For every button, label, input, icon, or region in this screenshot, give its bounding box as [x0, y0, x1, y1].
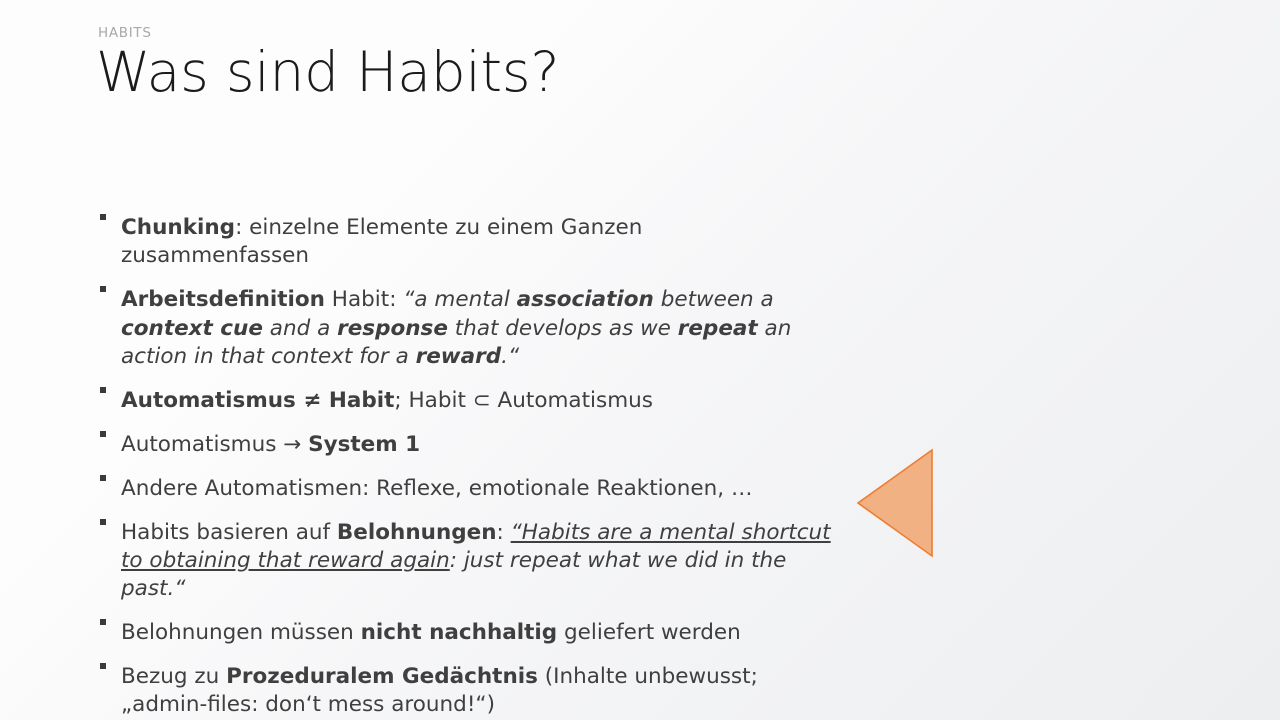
text-run: Prozeduralem Gedächtnis — [226, 664, 538, 689]
list-item: Chunking: einzelne Elemente zu einem Gan… — [96, 214, 836, 271]
text-run: ; Habit ⊂ Automatismus — [394, 388, 653, 413]
square-bullet-icon — [100, 214, 106, 220]
text-run: Habit — [329, 388, 395, 413]
slide-canvas: HABITS Was sind Habits? Chunking: einzel… — [0, 0, 1280, 720]
text-run: response — [337, 316, 448, 341]
text-run: Andere Automatismen: Reflexe, emotionale… — [121, 476, 752, 501]
list-item-text: Automatismus → System 1 — [121, 431, 836, 459]
square-bullet-icon — [100, 663, 106, 669]
list-item: Habits basieren auf Belohnungen: “Habits… — [96, 519, 836, 604]
text-run: context cue — [121, 316, 263, 341]
list-item-text: Chunking: einzelne Elemente zu einem Gan… — [121, 214, 836, 271]
text-run: reward — [416, 344, 502, 369]
text-run: and a — [263, 316, 337, 341]
text-run: Habit: — [325, 287, 403, 312]
text-run: Automatismus → — [121, 432, 308, 457]
square-bullet-icon — [100, 519, 106, 525]
slide-eyebrow-label: HABITS — [98, 27, 152, 41]
list-item: Arbeitsdefinition Habit: “a mental assoc… — [96, 286, 836, 371]
list-item: Bezug zu Prozeduralem Gedächtnis (Inhalt… — [96, 663, 836, 720]
square-bullet-icon — [100, 286, 106, 292]
list-item-text: Belohnungen müssen nicht nachhaltig geli… — [121, 619, 836, 647]
text-run: between a — [654, 287, 774, 312]
list-item: Belohnungen müssen nicht nachhaltig geli… — [96, 619, 836, 647]
text-run: Automatismus — [121, 388, 296, 413]
square-bullet-icon — [100, 619, 106, 625]
text-run: ≠ — [296, 388, 329, 413]
square-bullet-icon — [100, 387, 106, 393]
left-pointing-triangle-icon — [858, 450, 932, 556]
text-run: Habits basieren auf — [121, 520, 337, 545]
page-title: Was sind Habits? — [96, 42, 559, 104]
list-item: Automatismus → System 1 — [96, 431, 836, 459]
text-run: Chunking — [121, 215, 235, 240]
list-item-text: Andere Automatismen: Reflexe, emotionale… — [121, 475, 836, 503]
text-run: .“ — [501, 344, 519, 369]
list-item-text: Arbeitsdefinition Habit: “a mental assoc… — [121, 286, 836, 371]
square-bullet-icon — [100, 431, 106, 437]
square-bullet-icon — [100, 475, 106, 481]
text-run: “a mental — [403, 287, 516, 312]
text-run: Belohnungen müssen — [121, 620, 361, 645]
text-run: geliefert werden — [557, 620, 741, 645]
bullet-list: Chunking: einzelne Elemente zu einem Gan… — [96, 214, 836, 720]
text-run: Belohnungen — [337, 520, 497, 545]
text-run: repeat — [678, 316, 758, 341]
list-item: Automatismus ≠ Habit; Habit ⊂ Automatism… — [96, 387, 836, 415]
text-run: System 1 — [308, 432, 420, 457]
list-item: Andere Automatismen: Reflexe, emotionale… — [96, 475, 836, 503]
text-run: nicht nachhaltig — [361, 620, 558, 645]
text-run: that develops as we — [448, 316, 678, 341]
list-item-text: Habits basieren auf Belohnungen: “Habits… — [121, 519, 836, 604]
text-run: : — [497, 520, 511, 545]
text-run: Bezug zu — [121, 664, 226, 689]
text-run: association — [517, 287, 654, 312]
list-item-text: Bezug zu Prozeduralem Gedächtnis (Inhalt… — [121, 663, 836, 720]
list-item-text: Automatismus ≠ Habit; Habit ⊂ Automatism… — [121, 387, 836, 415]
text-run: Arbeitsdefinition — [121, 287, 325, 312]
